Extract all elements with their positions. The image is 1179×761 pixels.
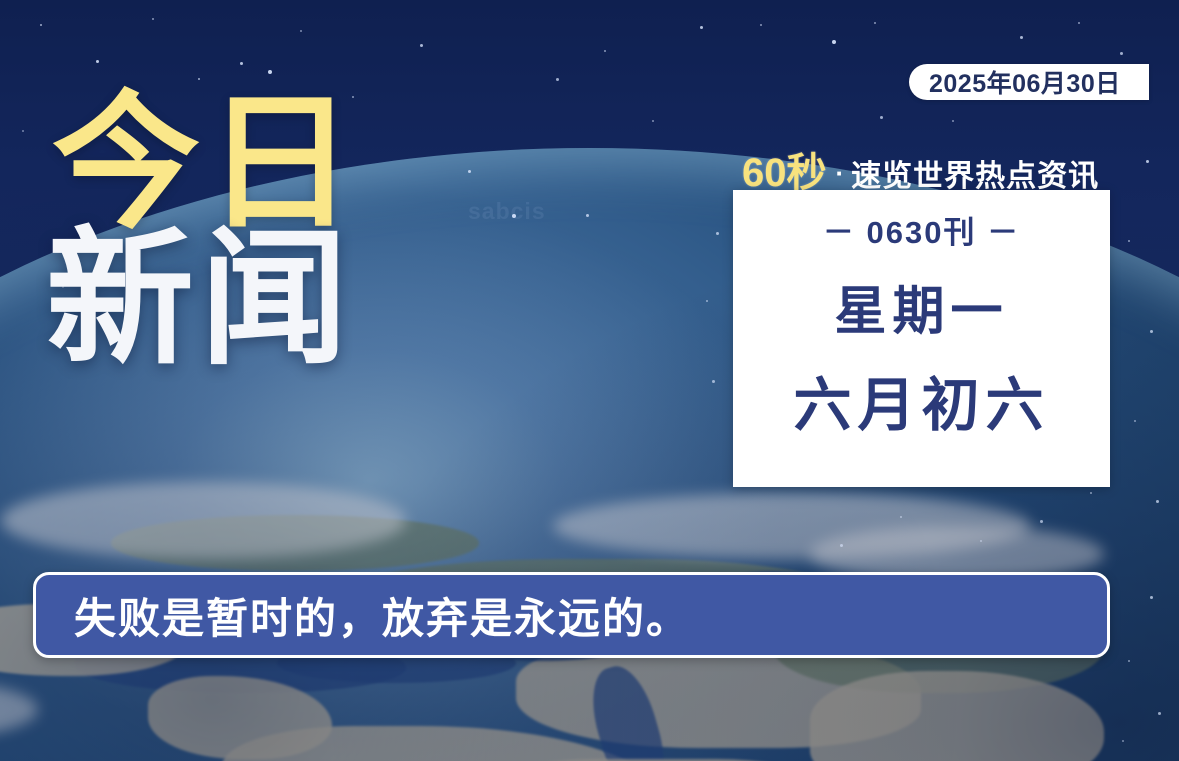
weekday-label: 星期一 [834, 269, 1008, 344]
page-title-line2: 新闻 [46, 232, 360, 368]
quote-banner: 失败是暂时的，放弃是永远的。 [33, 572, 1110, 658]
date-badge-text: 2025年06月30日 [929, 64, 1121, 100]
headline-text: 速览世界热点资讯 [851, 151, 1099, 195]
issue-card: － 0630刊 － 星期一 六月初六 [733, 190, 1110, 487]
lunar-date: 六月初六 [793, 358, 1049, 442]
headline-separator: · [836, 158, 845, 189]
date-badge: 2025年06月30日 [909, 64, 1149, 100]
quote-text: 失败是暂时的，放弃是永远的。 [74, 585, 690, 646]
poster-canvas: sabcis 2025年06月30日 今日 新闻 60秒 · 速览世界热点资讯 … [0, 0, 1179, 761]
background-watermark: sabcis [468, 198, 546, 225]
page-title: 今日 新闻 [52, 96, 360, 368]
issue-number: － 0630刊 － [823, 207, 1020, 252]
page-title-line1: 今日 [52, 96, 360, 232]
